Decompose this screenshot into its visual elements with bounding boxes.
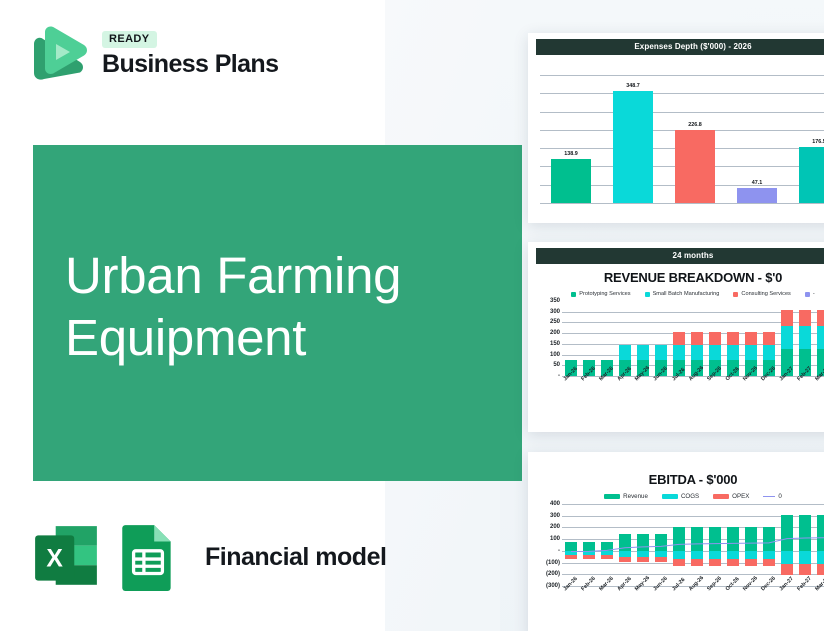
bar-segment [619, 345, 630, 360]
legend-swatch [805, 292, 810, 297]
play-logo-icon [30, 24, 88, 84]
bar-slot: 176.5 [788, 75, 824, 203]
hero-panel: Urban Farming Equipment [33, 145, 522, 481]
bar-slot: 348.7 [602, 75, 664, 203]
bar-value-label: 47.1 [752, 180, 763, 186]
bar-segment [727, 332, 738, 345]
legend-swatch [604, 494, 620, 499]
bar-segment [745, 345, 756, 360]
legend-item: OPEX [713, 493, 749, 500]
chart-title-ebitda: EBITDA - $'000 [536, 472, 824, 487]
bar-slot [706, 504, 724, 586]
chart-plot-revenue: 35030025020015010050-Jan-26Feb-26Mar-26A… [536, 301, 824, 406]
y-tick-label: (200) [546, 571, 560, 577]
bar-segment [619, 534, 630, 551]
bar-slot [652, 301, 670, 376]
legend-label: 0 [778, 493, 781, 500]
bar-segment [763, 332, 774, 345]
microsoft-excel-icon: X [33, 522, 99, 592]
bar-segment [673, 559, 684, 566]
bar-segment [673, 551, 684, 559]
bar-slot [562, 301, 580, 376]
bar-slot [778, 504, 796, 586]
bar-segment [655, 557, 666, 563]
legend-item: Consulting Services [733, 291, 790, 297]
y-tick-label: 200 [550, 524, 560, 530]
ready-badge: READY [102, 31, 157, 48]
bar: 226.8 [675, 130, 715, 203]
legend-swatch [571, 292, 576, 297]
y-tick-label: - [558, 373, 560, 379]
bar-segment [727, 551, 738, 559]
bar-segment [745, 527, 756, 551]
google-sheets-icon [115, 522, 181, 592]
bar-slot [616, 301, 634, 376]
legend-label: Prototyping Services [579, 291, 630, 297]
bar-segment [691, 527, 702, 551]
bar-value-label: 348.7 [626, 83, 640, 89]
brand-logo: READY Business Plans [30, 24, 278, 84]
bar-slot [742, 301, 760, 376]
bar-series [562, 301, 824, 376]
bar-segment [709, 332, 720, 345]
bar-slot [796, 504, 814, 586]
bar-segment [781, 310, 792, 326]
legend-swatch [645, 292, 650, 297]
y-tick-label: 200 [550, 330, 560, 336]
y-tick-label: 250 [550, 319, 560, 325]
bar-segment [799, 564, 810, 575]
legend-item: Revenue [604, 493, 648, 500]
bar-slot [580, 301, 598, 376]
bar-slot [598, 301, 616, 376]
bar-segment [799, 515, 810, 551]
bar-segment [745, 559, 756, 566]
bar-segment [763, 551, 774, 559]
bar-segment [619, 557, 630, 563]
bar-slot [670, 504, 688, 586]
x-axis: Jan-26Feb-26Mar-26Apr-26May-26Jun-26Jul-… [562, 586, 824, 616]
y-tick-label: 100 [550, 352, 560, 358]
bar-slot [634, 301, 652, 376]
bar-segment [817, 551, 824, 564]
y-tick-label: 100 [550, 536, 560, 542]
bar-segment [583, 542, 594, 551]
chart-legend-ebitda: RevenueCOGSOPEX0 [536, 493, 824, 500]
bar-segment [817, 515, 824, 551]
chart-card-revenue[interactable]: 24 months REVENUE BREAKDOWN - $'0 Protot… [528, 242, 824, 432]
bar-segment [709, 527, 720, 551]
bar-segment [673, 345, 684, 360]
bar-segment [763, 345, 774, 360]
y-tick-label: (100) [546, 560, 560, 566]
legend-item: Prototyping Services [571, 291, 630, 297]
page-title: Urban Farming Equipment [65, 245, 401, 369]
y-tick-label: 150 [550, 341, 560, 347]
legend-label: - [813, 291, 815, 297]
chart-plot-expenses: 138.9348.7226.847.1176.5 [536, 59, 824, 209]
bar-slot [652, 504, 670, 586]
bar-segment [709, 551, 720, 559]
bar-slot: 226.8 [664, 75, 726, 203]
bar-segment [781, 551, 792, 564]
bar-segment [709, 559, 720, 566]
y-tick-label: 50 [553, 362, 560, 368]
footer-formats: X Financial model [33, 522, 386, 592]
bar-segment [799, 310, 810, 326]
bar-slot [742, 504, 760, 586]
legend-swatch [713, 494, 729, 499]
bar-segment [655, 534, 666, 551]
y-tick-label: - [558, 548, 560, 554]
bar-slot [580, 504, 598, 586]
bar-segment [745, 551, 756, 559]
bar-slot [724, 504, 742, 586]
bar-segment [673, 332, 684, 345]
bar-series: 138.9348.7226.847.1176.5 [540, 75, 824, 203]
y-axis: 400300200100-(100)(200)(300) [536, 504, 562, 586]
bar-segment [691, 551, 702, 559]
footer-label: Financial model [205, 543, 386, 572]
bar-slot [760, 301, 778, 376]
bar-slot [670, 301, 688, 376]
bar-segment [583, 555, 594, 559]
y-tick-label: (300) [546, 583, 560, 589]
bar-segment [691, 345, 702, 360]
bar-segment [565, 555, 576, 559]
legend-swatch [763, 496, 775, 498]
bar-segment [817, 326, 824, 349]
legend-label: Small Batch Manufacturing [653, 291, 720, 297]
bar-slot [688, 301, 706, 376]
bar-segment [781, 515, 792, 551]
bar-segment [745, 332, 756, 345]
svg-text:X: X [46, 545, 63, 572]
legend-swatch [662, 494, 678, 499]
chart-title-revenue: REVENUE BREAKDOWN - $'0 [536, 270, 824, 285]
bar-segment [691, 332, 702, 345]
legend-label: OPEX [732, 493, 749, 500]
brand-name: Business Plans [102, 51, 278, 77]
bar-segment [637, 557, 648, 563]
bar-segment [817, 564, 824, 575]
y-tick-label: 300 [550, 513, 560, 519]
bar-slot [598, 504, 616, 586]
bar-segment [637, 345, 648, 360]
bar-segment [673, 527, 684, 551]
y-tick-label: 400 [550, 501, 560, 507]
bar: 176.5 [799, 147, 824, 203]
bar-value-label: 176.5 [812, 139, 824, 145]
legend-item: COGS [662, 493, 699, 500]
bar-slot [760, 504, 778, 586]
bar-segment [565, 542, 576, 551]
bar-segment [727, 559, 738, 566]
chart-card-ebitda[interactable]: EBITDA - $'000 RevenueCOGSOPEX0 40030020… [528, 452, 824, 631]
bar-segment [781, 326, 792, 349]
bar-slot [796, 301, 814, 376]
legend-item: Small Batch Manufacturing [645, 291, 720, 297]
bar-segment [709, 345, 720, 360]
bar-slot [724, 301, 742, 376]
y-tick-label: 300 [550, 309, 560, 315]
chart-header-bar-revenue: 24 months [536, 248, 824, 264]
y-tick-label: 350 [550, 298, 560, 304]
bar-slot: 47.1 [726, 75, 788, 203]
chart-card-expenses[interactable]: Expenses Depth ($'000) - 2026 138.9348.7… [528, 33, 824, 223]
chart-legend-revenue: Prototyping ServicesSmall Batch Manufact… [536, 291, 824, 297]
bar-slot [706, 301, 724, 376]
bar-segment [727, 527, 738, 551]
bar-segment [799, 326, 810, 349]
gridline [540, 203, 824, 204]
bar-slot [616, 504, 634, 586]
bar-slot [814, 301, 824, 376]
bar-slot [778, 301, 796, 376]
stacked-bar [817, 310, 824, 376]
bar-segment [601, 555, 612, 559]
y-axis: 35030025020015010050- [536, 301, 562, 376]
bar-slot: 138.9 [540, 75, 602, 203]
bar-value-label: 138.9 [564, 151, 578, 157]
legend-label: Consulting Services [741, 291, 790, 297]
bar-segment [817, 310, 824, 326]
legend-label: COGS [681, 493, 699, 500]
legend-label: Revenue [623, 493, 648, 500]
chart-plot-ebitda: 400300200100-(100)(200)(300)Jan-26Feb-26… [536, 504, 824, 614]
bar-segment [799, 551, 810, 564]
bar: 348.7 [613, 91, 653, 203]
chart-header-bar-expenses: Expenses Depth ($'000) - 2026 [536, 39, 824, 55]
bar-value-label: 226.8 [688, 122, 702, 128]
legend-swatch [733, 292, 738, 297]
bar-segment [655, 345, 666, 360]
bar-segment [781, 564, 792, 575]
slide-root: READY Business Plans Urban Farming Equip… [0, 0, 824, 631]
bar: 138.9 [551, 159, 591, 203]
bar-slot [688, 504, 706, 586]
bar-segment [637, 534, 648, 551]
bar-segment [763, 527, 774, 551]
bar-slot [634, 504, 652, 586]
legend-item: - [805, 291, 815, 297]
bar: 47.1 [737, 188, 777, 203]
bar-segment [691, 559, 702, 566]
bar-segment [727, 345, 738, 360]
bar-segment [601, 542, 612, 551]
bar-segment [763, 559, 774, 566]
bar-slot [814, 504, 824, 586]
bar-series [562, 504, 824, 586]
x-axis: Jan-26Feb-26Mar-26Apr-26May-26Jun-26Jul-… [562, 376, 824, 406]
brand-text: READY Business Plans [102, 31, 278, 77]
legend-item: 0 [763, 493, 781, 500]
bar-slot [562, 504, 580, 586]
